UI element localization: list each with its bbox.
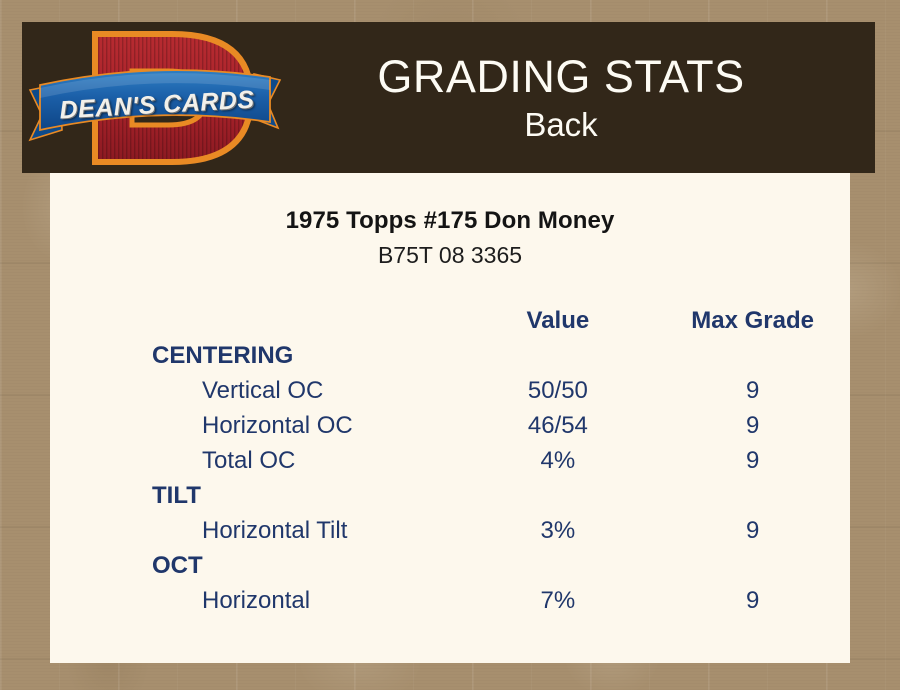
title-block: GRADING STATS Back — [287, 51, 875, 145]
table-row: Horizontal Tilt3%9 — [50, 513, 850, 548]
section-label: OCT — [50, 548, 850, 583]
section-row: TILT — [50, 478, 850, 513]
section-label: CENTERING — [50, 338, 850, 373]
table-header-row: Value Max Grade — [50, 303, 850, 338]
table-row: Vertical OC50/509 — [50, 373, 850, 408]
stat-label: Horizontal Tilt — [50, 513, 461, 548]
table-row: Horizontal7%9 — [50, 583, 850, 618]
stat-value: 46/54 — [461, 408, 656, 443]
card-id: B75T 08 3365 — [50, 242, 850, 269]
stat-label: Horizontal — [50, 583, 461, 618]
stat-max-grade: 9 — [655, 513, 850, 548]
section-label: TILT — [50, 478, 850, 513]
stat-max-grade: 9 — [655, 373, 850, 408]
stat-max-grade: 9 — [655, 583, 850, 618]
deans-cards-logo[interactable]: DEAN'S CARDS — [22, 22, 287, 173]
column-header-category — [50, 303, 461, 338]
stat-max-grade: 9 — [655, 408, 850, 443]
content-panel: 1975 Topps #175 Don Money B75T 08 3365 V… — [50, 173, 850, 663]
stat-value: 50/50 — [461, 373, 656, 408]
card-title: 1975 Topps #175 Don Money — [50, 207, 850, 235]
stat-max-grade: 9 — [655, 443, 850, 478]
page-subtitle: Back — [287, 105, 835, 145]
column-header-value: Value — [461, 303, 656, 338]
stat-value: 4% — [461, 443, 656, 478]
logo-banner-text: DEAN'S CARDS — [26, 67, 287, 143]
stat-value: 3% — [461, 513, 656, 548]
stat-label: Total OC — [50, 443, 461, 478]
grading-stats-table: Value Max Grade CENTERINGVertical OC50/5… — [50, 303, 850, 618]
stat-label: Vertical OC — [50, 373, 461, 408]
table-head: Value Max Grade — [50, 303, 850, 338]
page-title: GRADING STATS — [287, 51, 835, 103]
table-row: Total OC4%9 — [50, 443, 850, 478]
stat-label: Horizontal OC — [50, 408, 461, 443]
table-body: CENTERINGVertical OC50/509Horizontal OC4… — [50, 338, 850, 618]
section-row: CENTERING — [50, 338, 850, 373]
table-row: Horizontal OC46/549 — [50, 408, 850, 443]
logo-banner: DEAN'S CARDS — [28, 74, 286, 136]
stat-value: 7% — [461, 583, 656, 618]
header-bar: DEAN'S CARDS GRADING STATS Back — [22, 22, 875, 173]
column-header-max-grade: Max Grade — [655, 303, 850, 338]
section-row: OCT — [50, 548, 850, 583]
